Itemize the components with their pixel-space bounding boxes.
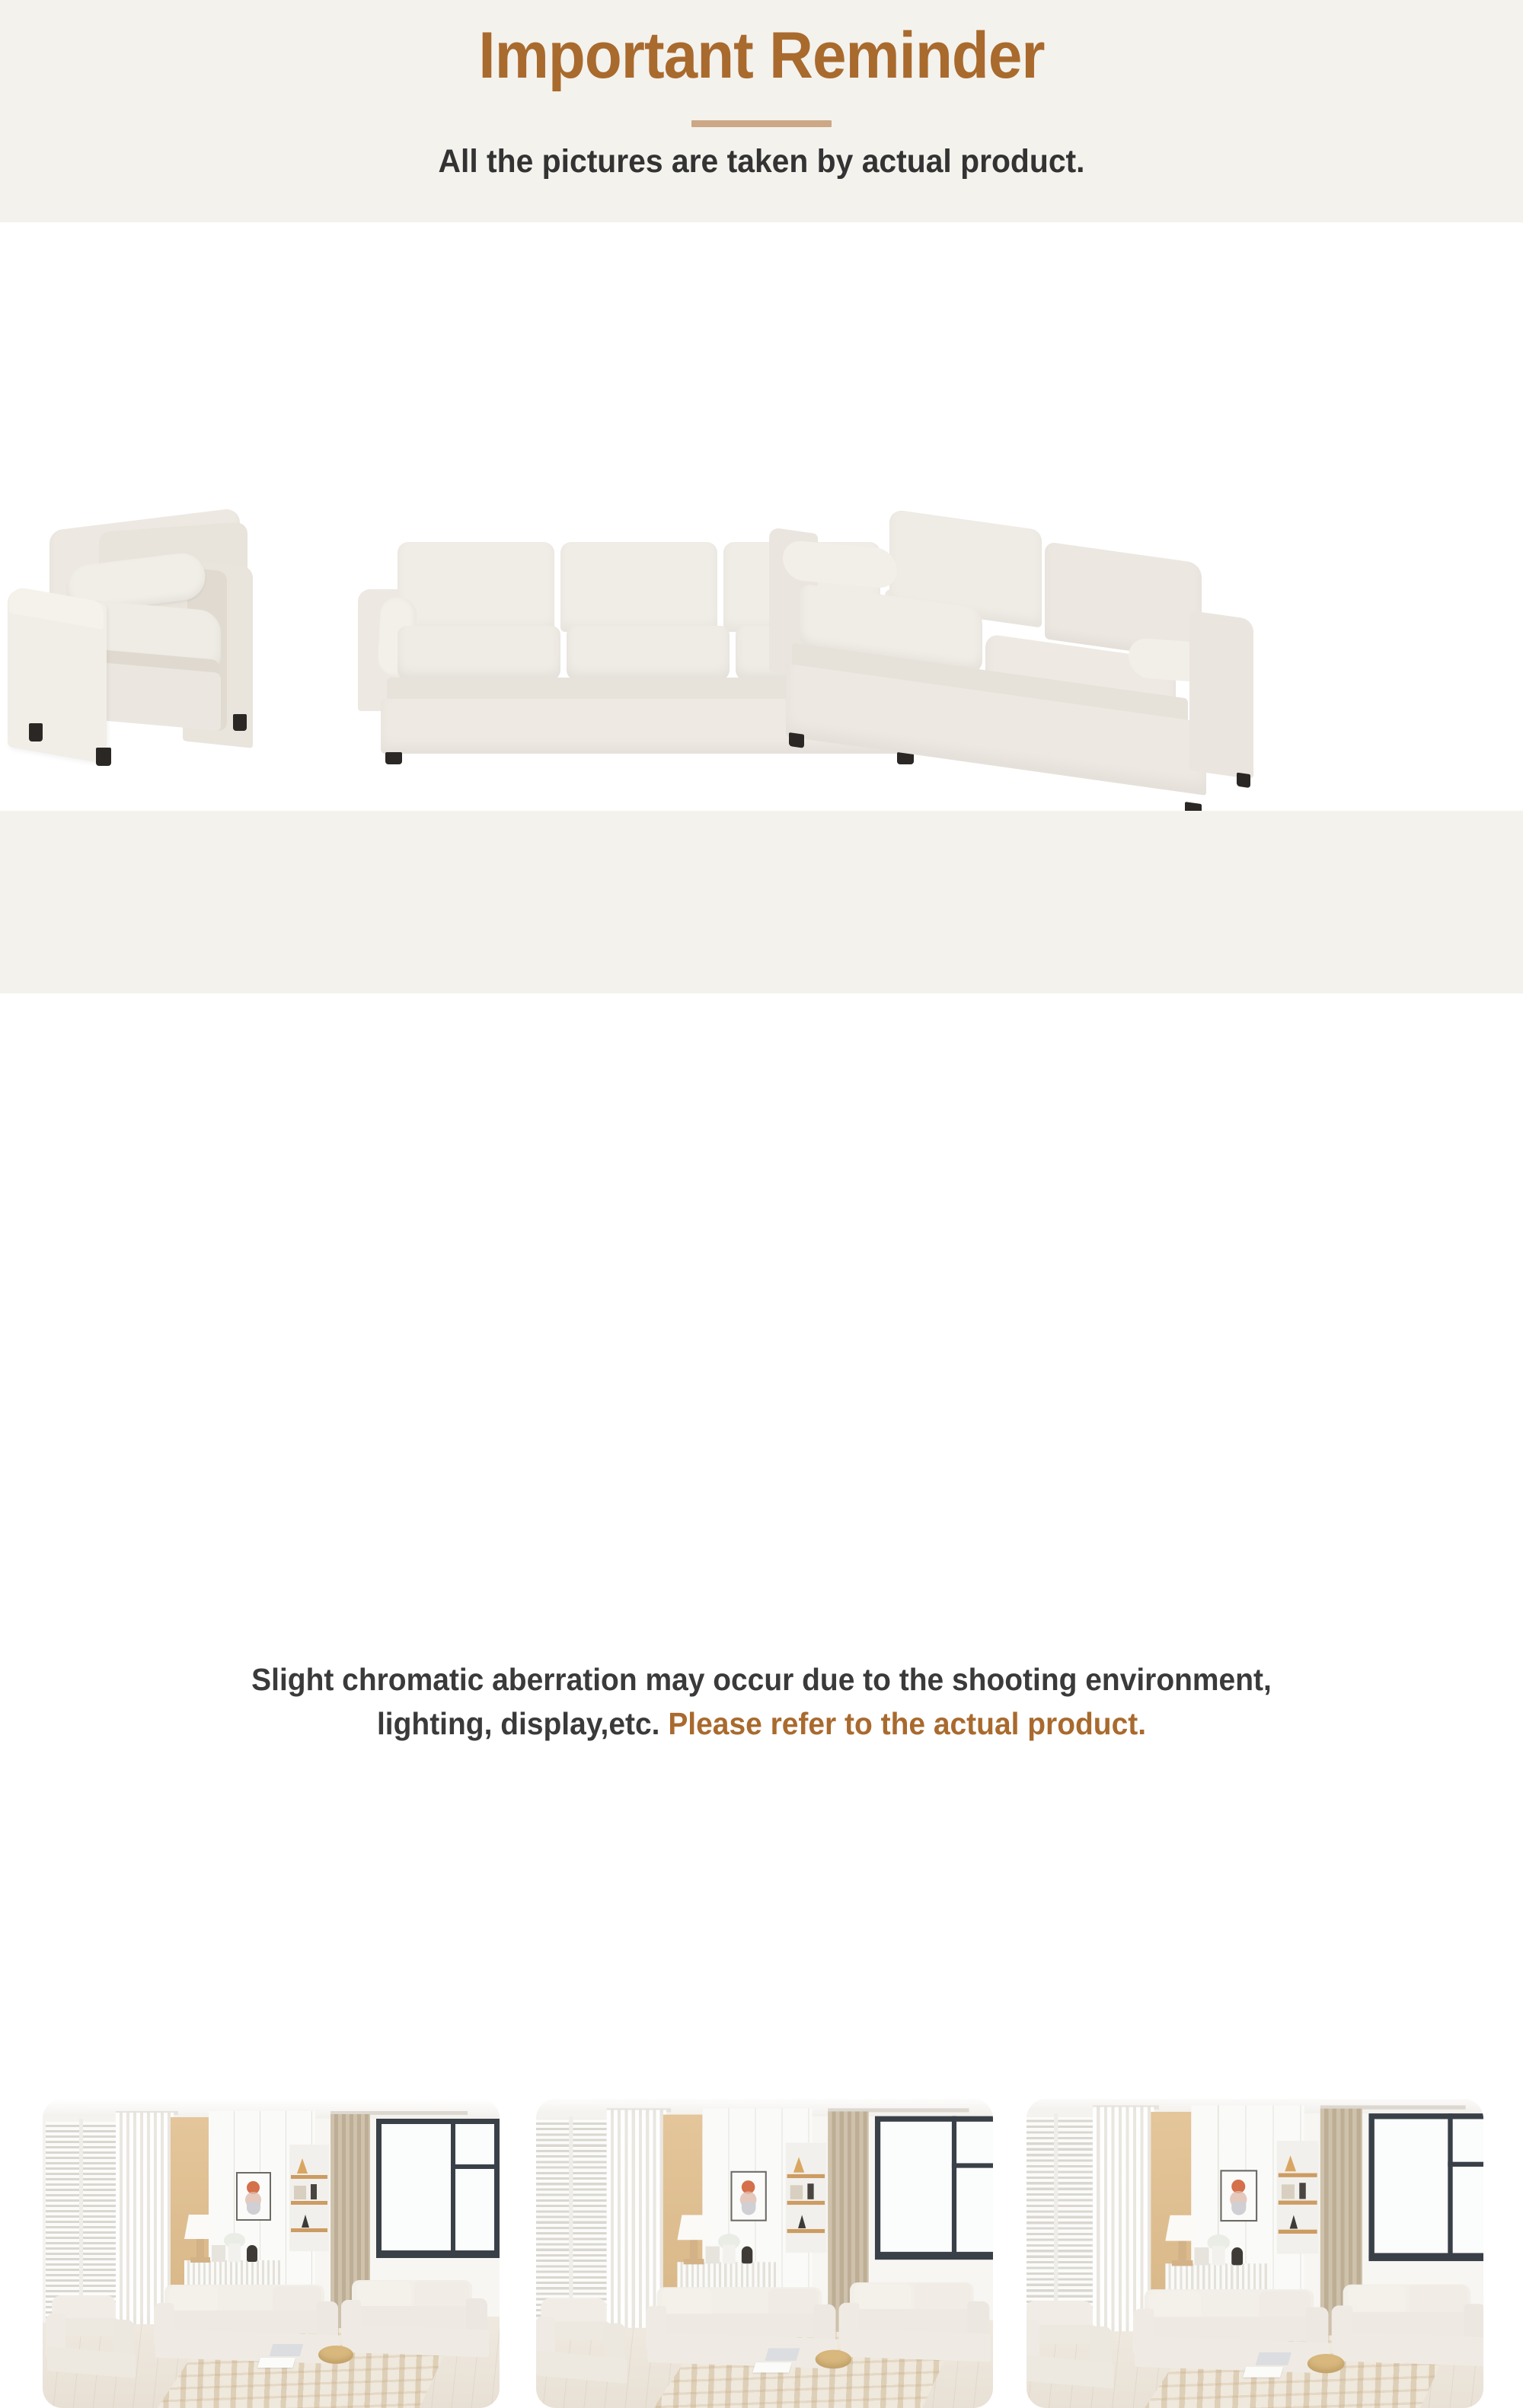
room-sofa3-back-cushion [1259, 2291, 1311, 2320]
window [376, 2119, 500, 2256]
page-title: Important Reminder [53, 21, 1470, 90]
window-sill [376, 2253, 500, 2258]
books-on-sideboard [212, 2245, 225, 2262]
sofa3-seat-cushion [567, 626, 730, 681]
loveseat-foot [1237, 773, 1250, 789]
disclaimer-line-1: Slight chromatic aberration may occur du… [251, 1662, 1272, 1697]
table-lamp-shade [677, 2215, 710, 2240]
window-mullion [451, 2164, 500, 2169]
room-armchair-cushion [1033, 2325, 1097, 2344]
room-sofa3-back-cushion [662, 2288, 712, 2317]
disclaimer-text: Slight chromatic aberration may occur du… [38, 1657, 1485, 1746]
sofa3-back-cushion [560, 542, 717, 632]
flower-vase [723, 2245, 735, 2264]
armchair-foot [29, 723, 43, 742]
books-on-rug [270, 2344, 304, 2356]
room-sofa3-back-cushion [221, 2285, 270, 2314]
shelf [787, 2174, 825, 2178]
window-sill [875, 2254, 993, 2260]
books-on-rug [1243, 2367, 1283, 2378]
sideboard-ornament [1231, 2247, 1243, 2265]
room-scene-thumbnail-1[interactable] [43, 2099, 500, 2408]
room-sofa3-back-cushion [1204, 2289, 1256, 2320]
sideboard-ornament [247, 2245, 257, 2262]
disclaimer-band: Slight chromatic aberration may occur du… [0, 811, 1523, 993]
flower-vase [228, 2244, 241, 2262]
window-sill [1368, 2256, 1483, 2261]
disclaimer-line-2-accent: Please refer to the actual product. [668, 1706, 1146, 1741]
sofa3-back-cushion [398, 542, 554, 632]
books-on-sideboard [705, 2247, 720, 2264]
room-sofa3-back-cushion [273, 2286, 321, 2314]
shelf-decor [1299, 2183, 1305, 2199]
shelf-decor [311, 2184, 317, 2199]
table-lamp-base [1172, 2260, 1193, 2266]
page-subtitle: All the pictures are taken by actual pro… [38, 143, 1485, 180]
window-mullion [451, 2119, 455, 2256]
room-armchair-cushion [548, 2322, 611, 2341]
shelf-decor [807, 2183, 813, 2199]
armchair-foot [233, 714, 247, 731]
window-mullion [952, 2116, 956, 2257]
shelf [1279, 2230, 1317, 2234]
sofa3-seat-cushion [398, 626, 560, 681]
books-on-rug [1256, 2352, 1292, 2365]
shelf [1279, 2174, 1317, 2177]
room-loveseat-base [1333, 2332, 1483, 2366]
table-lamp-base [190, 2257, 210, 2263]
room-sofa3-back-cushion [768, 2288, 819, 2317]
books-on-sideboard [1194, 2247, 1209, 2265]
header-band: Important Reminder All the pictures are … [0, 0, 1523, 222]
room-loveseat-base [343, 2325, 489, 2358]
books-on-rug [257, 2358, 295, 2368]
shelf-decor [790, 2185, 803, 2199]
room-loveseat-back-cushion [854, 2284, 911, 2312]
books-on-rug [765, 2349, 800, 2361]
shelf [1279, 2201, 1317, 2205]
room-loveseat-back-cushion [356, 2282, 411, 2309]
table-lamp-base [684, 2259, 704, 2264]
woven-pouf [318, 2346, 353, 2364]
room-loveseat-base [841, 2328, 991, 2362]
woven-pouf [816, 2350, 851, 2369]
loveseat-foot [789, 732, 804, 748]
room-scene-band [0, 993, 1523, 1523]
room-scene-thumbnail-2[interactable] [536, 2099, 993, 2408]
shelf [291, 2228, 327, 2232]
room-loveseat-back-cushion [1348, 2286, 1406, 2315]
loveseat-right-arm [1189, 611, 1253, 780]
woven-pouf [1307, 2354, 1345, 2373]
shelf [787, 2201, 825, 2205]
shelf-decor [1282, 2184, 1295, 2199]
room-loveseat-back-cushion [914, 2282, 970, 2312]
shutter-divider [569, 2116, 573, 2325]
disclaimer-line-2-plain: lighting, display,etc. [377, 1706, 660, 1741]
sideboard-ornament [742, 2247, 752, 2264]
window-mullion [1448, 2162, 1483, 2167]
window-mullion [952, 2163, 993, 2167]
room-loveseat-back-cushion [414, 2280, 469, 2309]
window-mullion [1448, 2113, 1452, 2259]
window [1368, 2113, 1483, 2259]
room-sofa3-back-cushion [715, 2287, 765, 2317]
room-sofa3-back-cushion [169, 2286, 218, 2314]
shelf [291, 2175, 327, 2179]
product-photo-band [0, 222, 1523, 811]
shutter-divider [1054, 2113, 1058, 2328]
armchair-foot [96, 748, 111, 766]
product-image-armchair [8, 519, 282, 763]
product-image-loveseat [769, 492, 1264, 835]
title-divider [691, 120, 832, 127]
sofa3-foot [385, 752, 402, 764]
room-scene-thumbnail-3[interactable] [1027, 2099, 1483, 2408]
flower-vase [1212, 2246, 1225, 2265]
shutter-divider [79, 2119, 83, 2321]
room-loveseat-back-cushion [1409, 2285, 1467, 2315]
product-listing-page: Important Reminder All the pictures are … [0, 0, 1523, 1523]
shelf [291, 2201, 327, 2205]
table-lamp-shade [184, 2215, 216, 2239]
room-sofa3-back-cushion [1149, 2291, 1201, 2320]
shutter-slats [1027, 2116, 1093, 2324]
table-lamp-shade [1165, 2215, 1199, 2241]
room-armchair-cushion [59, 2318, 120, 2336]
window [875, 2116, 993, 2257]
books-on-rug [752, 2362, 791, 2372]
shelf-decor [294, 2186, 306, 2199]
shelf [787, 2229, 825, 2233]
